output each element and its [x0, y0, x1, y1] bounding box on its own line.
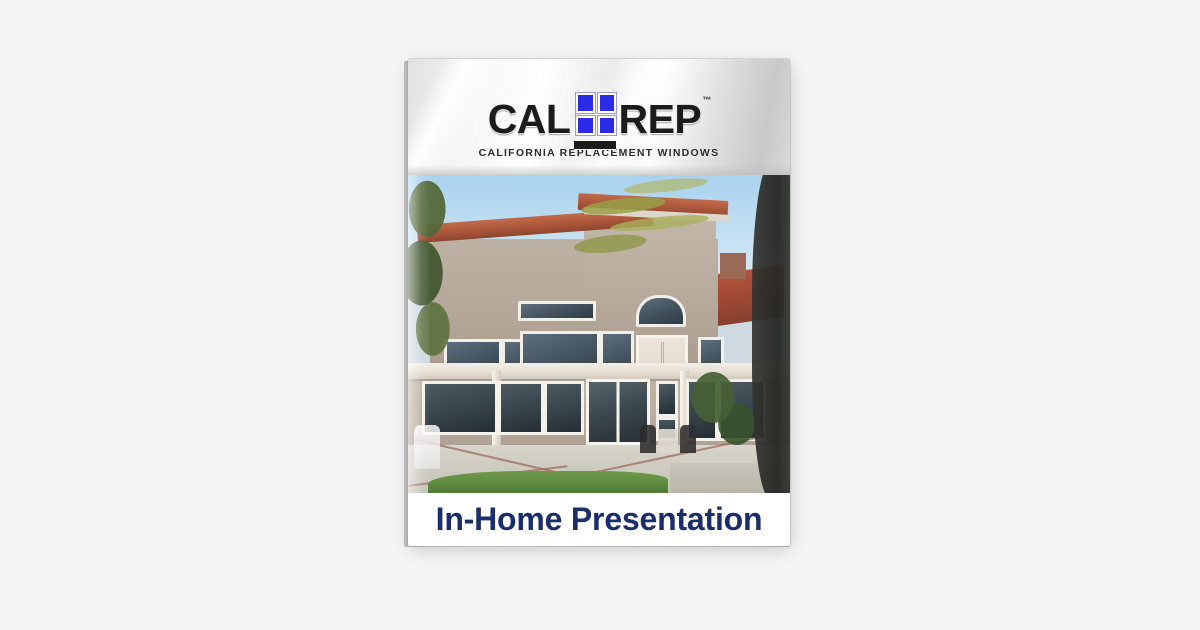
palm-fronds: [552, 175, 735, 304]
window-pane-grid-icon: [572, 99, 616, 151]
lawn: [428, 471, 668, 493]
tree-trunk-right: [752, 175, 790, 493]
bistro-table: [658, 429, 678, 453]
calrep-logo: CALREP™: [488, 89, 711, 139]
arched-window: [636, 295, 686, 327]
lower-window-2: [498, 381, 544, 435]
cover-photo: [408, 175, 790, 493]
trademark-symbol: ™: [702, 95, 711, 105]
upper-transom-window: [518, 301, 596, 321]
cover-header: CALREP™ CALIFORNIA REPLACEMENT WINDOWS: [408, 59, 790, 175]
shrub-right: [682, 371, 760, 459]
page-background: CALREP™ CALIFORNIA REPLACEMENT WINDOWS: [0, 0, 1200, 630]
glass-reflection-overlay: [408, 175, 430, 493]
lower-window-4: [656, 381, 678, 417]
logo-word-cal: CAL: [488, 96, 571, 142]
bistro-chair-left: [640, 425, 656, 453]
lower-window-3: [544, 381, 584, 435]
cover-title: In-Home Presentation: [436, 501, 763, 538]
logo-word-rep: REP: [618, 96, 701, 142]
cover-face: CALREP™ CALIFORNIA REPLACEMENT WINDOWS: [408, 59, 790, 546]
cover-footer: In-Home Presentation: [408, 493, 790, 546]
book-cover[interactable]: CALREP™ CALIFORNIA REPLACEMENT WINDOWS: [404, 59, 792, 549]
